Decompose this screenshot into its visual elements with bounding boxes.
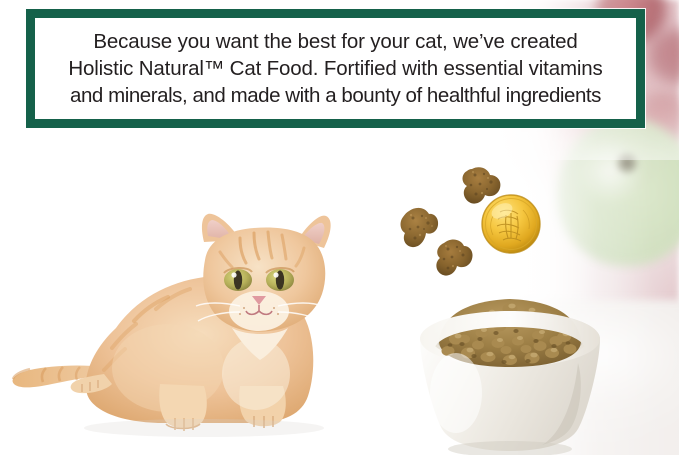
background-apple-stem-icon: [616, 152, 638, 174]
headline-text-block: Because you want the best for your cat, …: [35, 28, 636, 109]
kibble-piece-icon: [432, 235, 476, 281]
food-bowl-photo: White ceramic bowl filled with brown dry…: [412, 283, 608, 455]
banner-canvas: Blurred photo of a green apple and red f…: [0, 0, 679, 455]
gold-coin-icon: Gold coin shown for size comparison: [481, 194, 541, 254]
cat-photo: Orange ginger tabby cat lying down facin…: [8, 178, 360, 450]
headline-line-2: Holistic Natural™ Cat Food. Fortified wi…: [39, 55, 632, 82]
headline-line-3: and minerals, and made with a bounty of …: [39, 82, 632, 109]
headline-line-1: Because you want the best for your cat, …: [39, 28, 632, 55]
headline-callout-box: Because you want the best for your cat, …: [26, 9, 645, 128]
